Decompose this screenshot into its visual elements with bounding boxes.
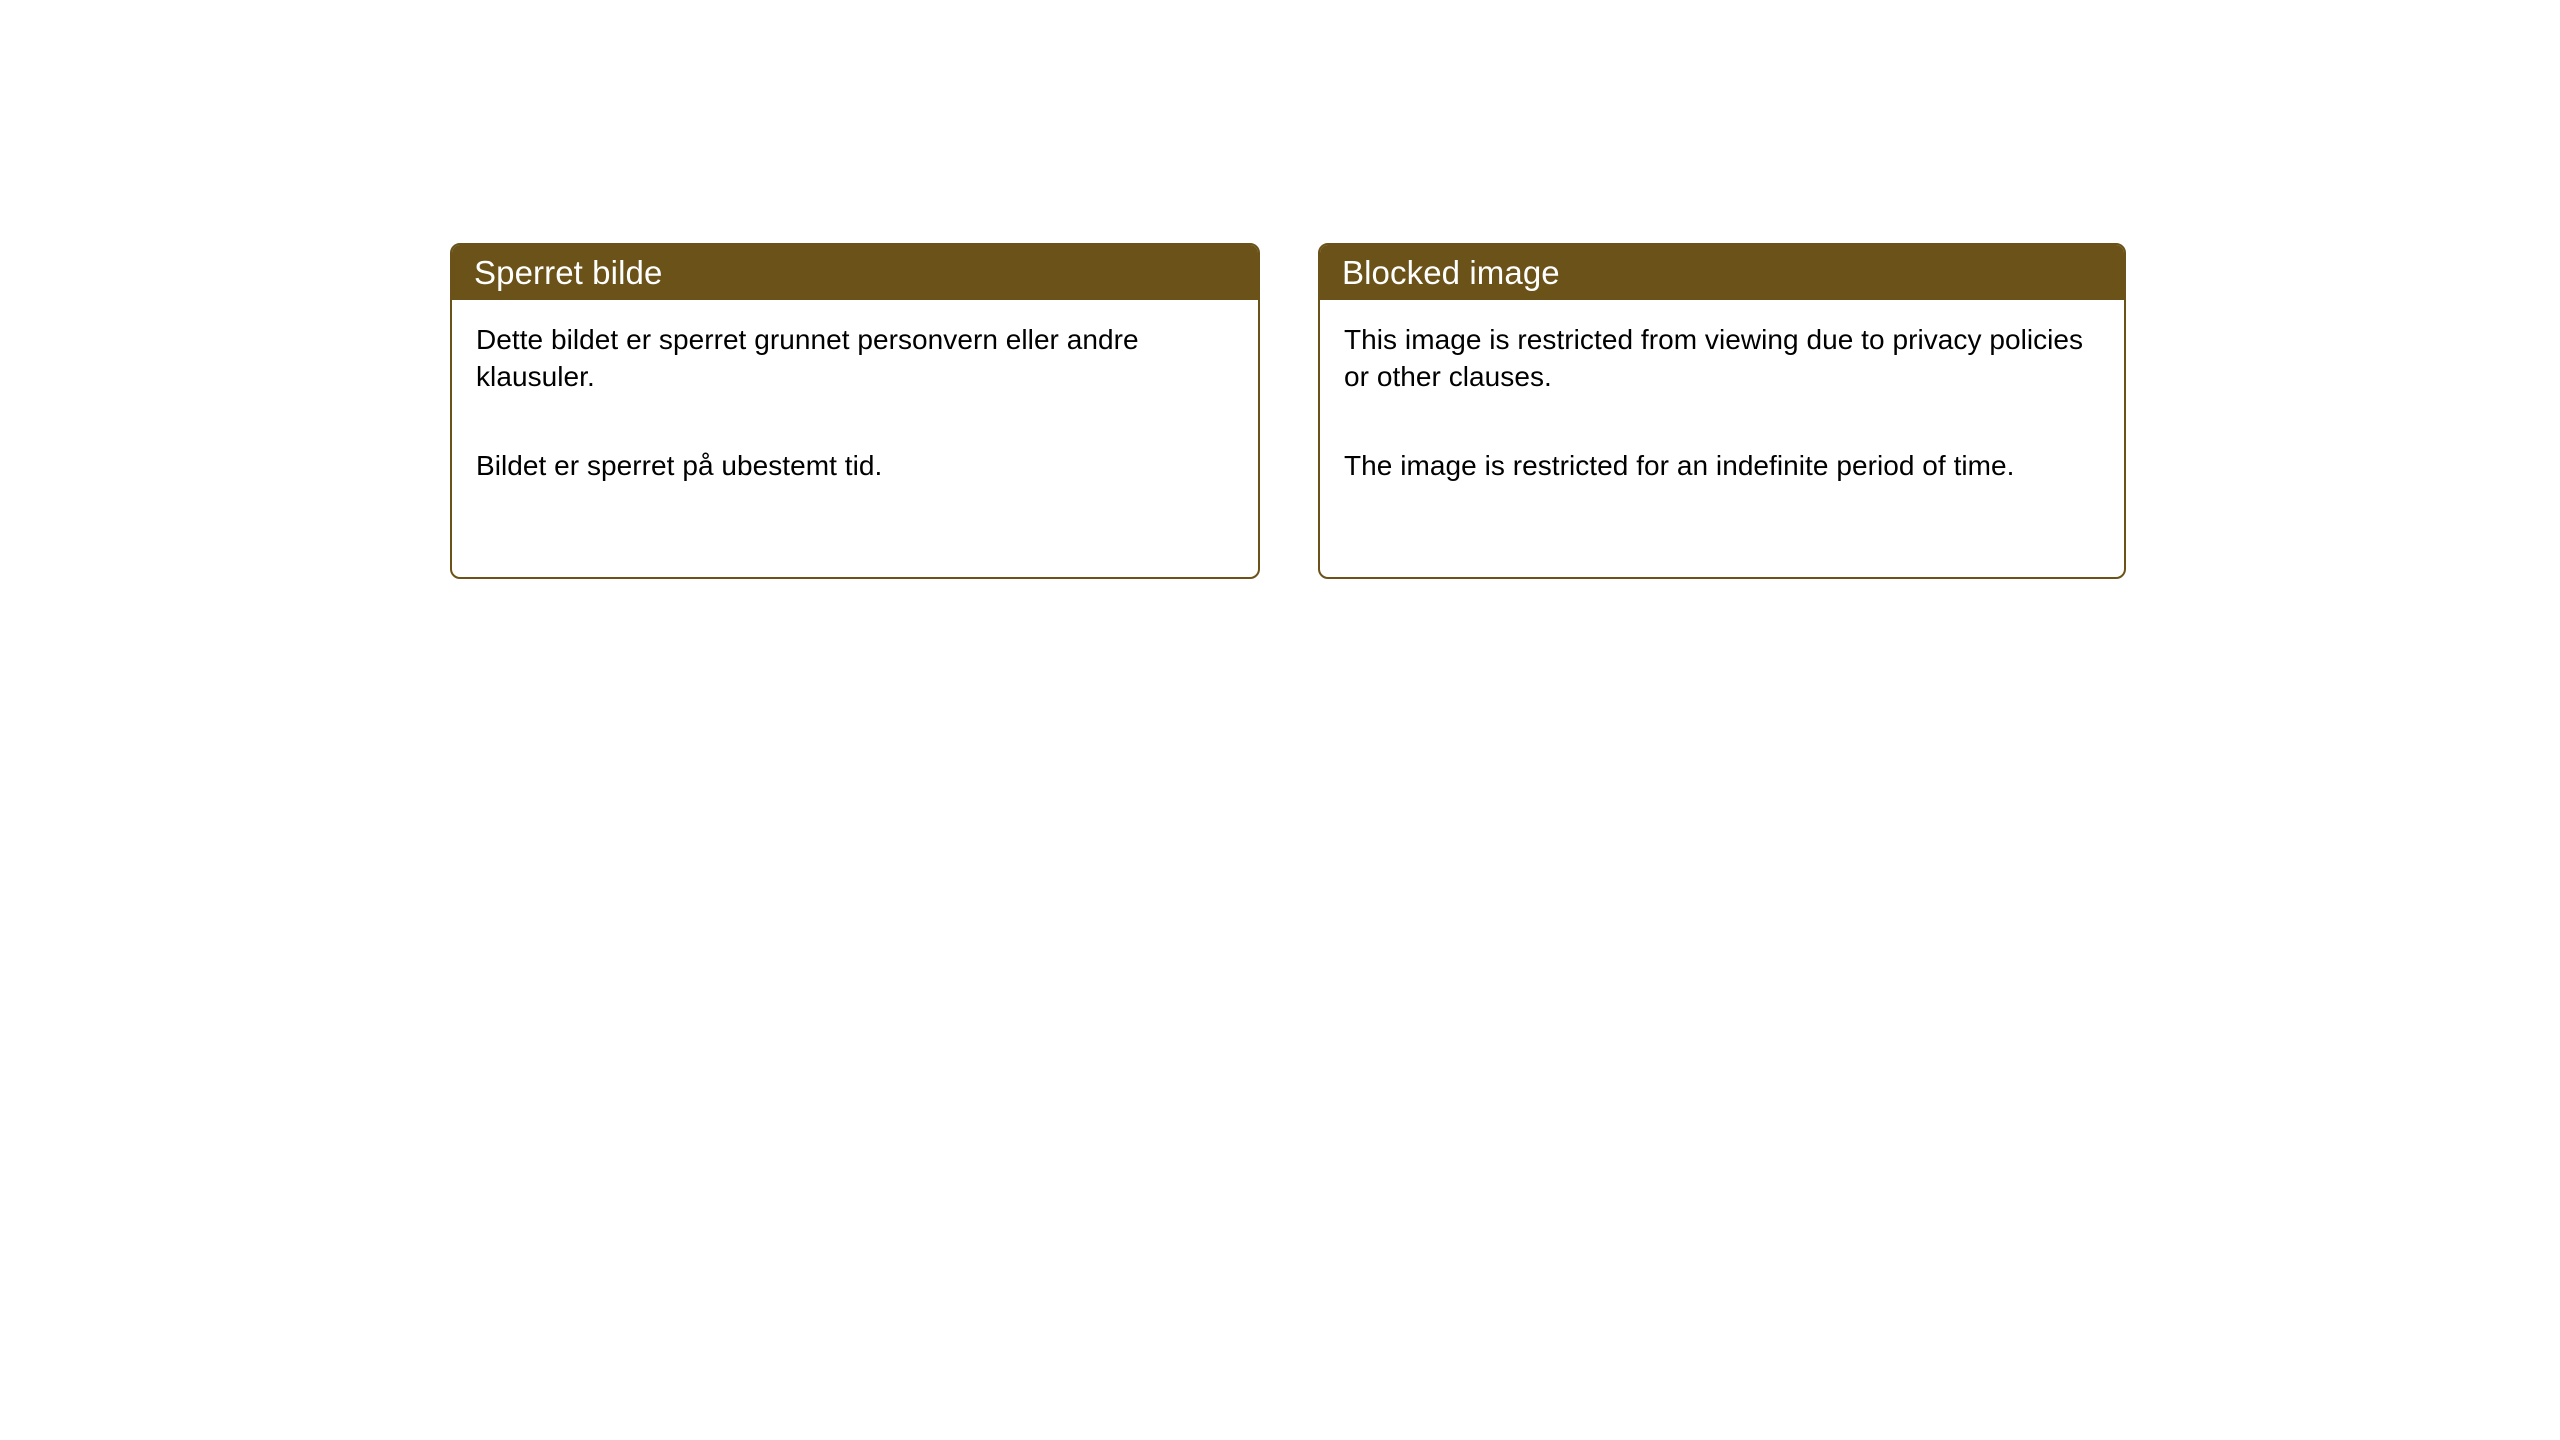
notice-paragraph-primary-english: This image is restricted from viewing du… [1344, 322, 2100, 396]
notice-paragraph-secondary-english: The image is restricted for an indefinit… [1344, 448, 2100, 485]
panel-header-norwegian: Sperret bilde [452, 245, 1258, 300]
notice-paragraph-primary-norwegian: Dette bildet er sperret grunnet personve… [476, 322, 1234, 396]
page-canvas: Sperret bilde Dette bildet er sperret gr… [0, 0, 2560, 1440]
notice-paragraph-secondary-norwegian: Bildet er sperret på ubestemt tid. [476, 448, 1234, 485]
panel-title-norwegian: Sperret bilde [474, 256, 662, 289]
panel-body-english: This image is restricted from viewing du… [1320, 300, 2124, 485]
panel-body-norwegian: Dette bildet er sperret grunnet personve… [452, 300, 1258, 485]
panel-header-english: Blocked image [1320, 245, 2124, 300]
blocked-image-notice-norwegian: Sperret bilde Dette bildet er sperret gr… [450, 243, 1260, 579]
blocked-image-notice-english: Blocked image This image is restricted f… [1318, 243, 2126, 579]
panel-title-english: Blocked image [1342, 256, 1560, 289]
